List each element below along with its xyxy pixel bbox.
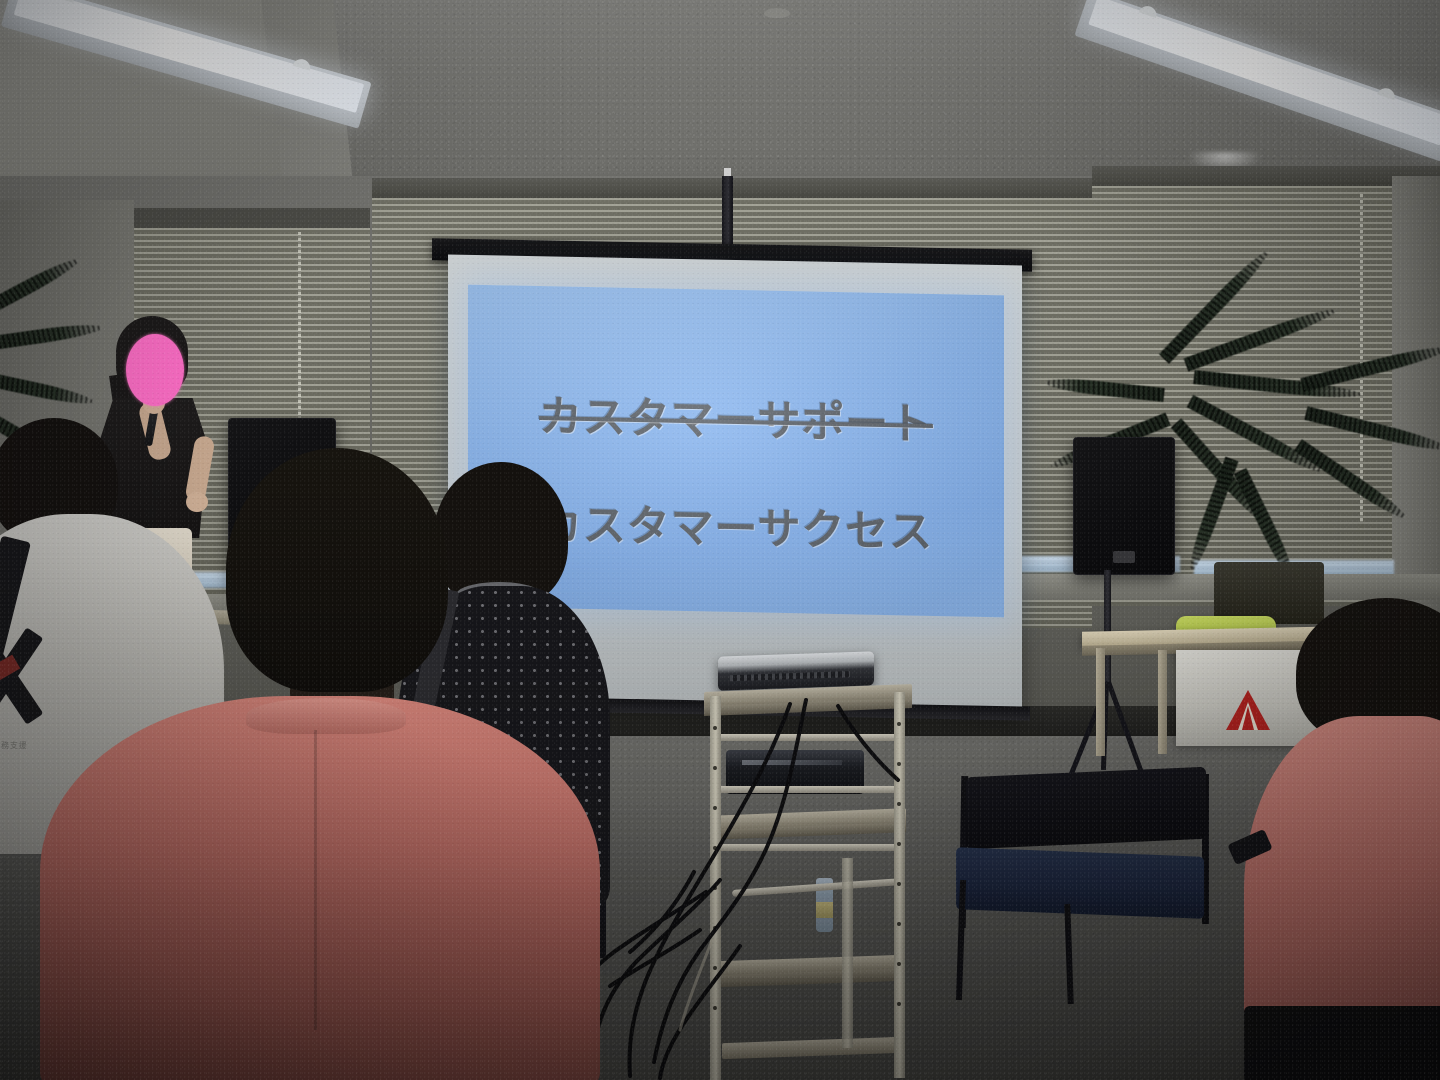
seminar-room-photo: カスタマーサポート カスタマーサクセス <box>0 0 1440 1080</box>
attendee-shirt <box>40 696 600 1080</box>
attendee-pink-shirt-right <box>1244 706 1440 1080</box>
attendee-collar <box>246 698 406 734</box>
attendee-pants <box>1244 1006 1440 1080</box>
attendee-salmon-polo <box>40 448 600 1080</box>
attendee-head <box>226 448 448 692</box>
shirt-seam <box>314 730 317 1030</box>
